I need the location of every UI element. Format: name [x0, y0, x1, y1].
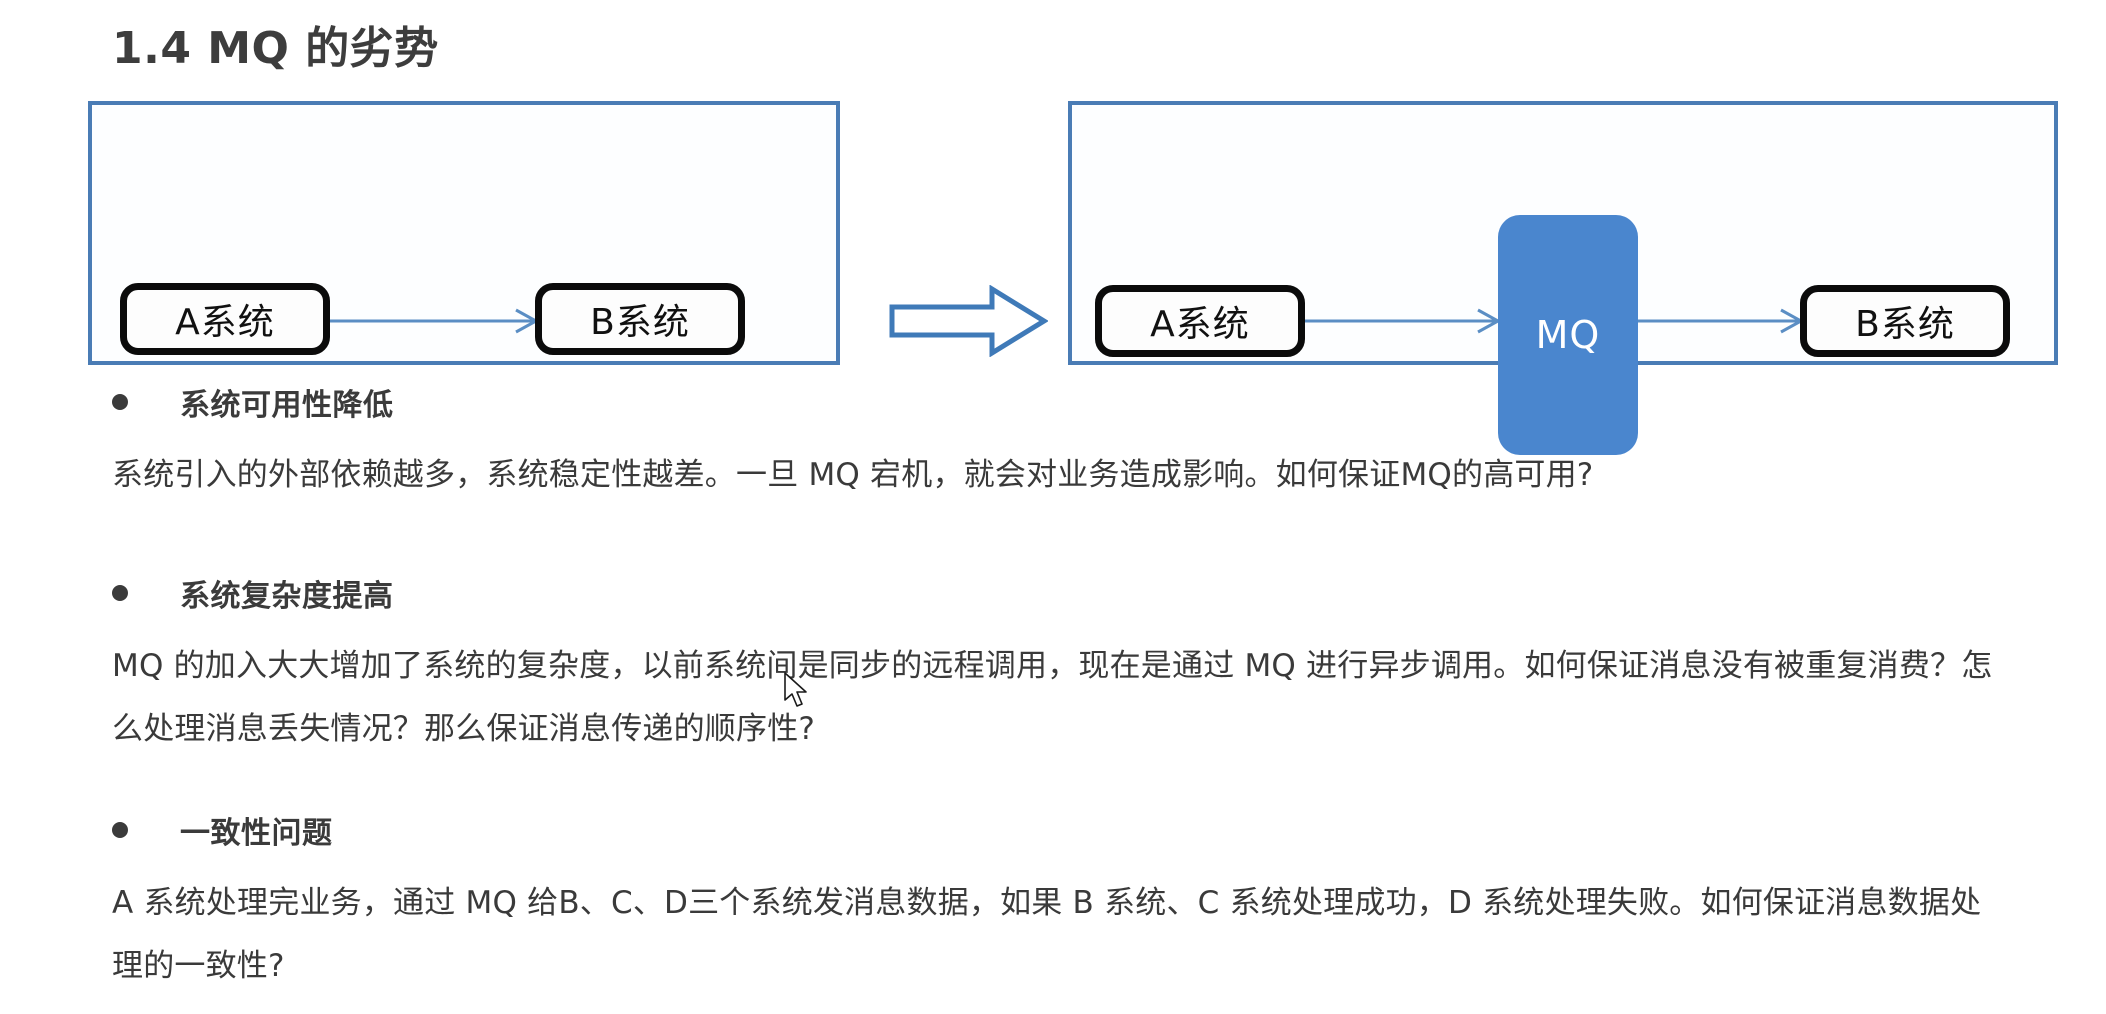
connector-arrow-a-to-mq [1305, 308, 1500, 334]
node-b-system-before: B系统 [535, 283, 745, 355]
bullet-heading-row: 一致性问题 [112, 808, 2106, 852]
connector-arrow-before [330, 308, 538, 334]
node-a-system-after: A系统 [1095, 285, 1305, 357]
node-b-system-after: B系统 [1800, 285, 2010, 357]
node-a-system-before: A系统 [120, 283, 330, 355]
section-paragraph: A 系统处理完业务，通过 MQ 给B、C、D三个系统发消息数据，如果 B 系统、… [112, 872, 1996, 998]
bullet-heading-row: 系统复杂度提高 [112, 571, 2106, 615]
page-title: 1.4 MQ 的劣势 [112, 12, 439, 76]
bullet-dot-icon [112, 585, 128, 601]
transform-block-arrow-icon [888, 285, 1048, 357]
section-availability: 系统可用性降低 系统引入的外部依赖越多，系统稳定性越差。一旦 MQ 宕机，就会对… [0, 380, 2106, 507]
section-heading: 一致性问题 [180, 808, 333, 852]
architecture-diagram: A系统 B系统 A系统 MQ B系统 [0, 95, 2106, 365]
section-consistency: 一致性问题 A 系统处理完业务，通过 MQ 给B、C、D三个系统发消息数据，如果… [0, 808, 2106, 998]
section-paragraph: 系统引入的外部依赖越多，系统稳定性越差。一旦 MQ 宕机，就会对业务造成影响。如… [112, 444, 1996, 507]
connector-arrow-mq-to-b [1638, 308, 1803, 334]
section-paragraph: MQ 的加入大大增加了系统的复杂度，以前系统间是同步的远程调用，现在是通过 MQ… [112, 635, 1996, 761]
section-heading: 系统可用性降低 [180, 380, 394, 424]
bullet-dot-icon [112, 822, 128, 838]
bullet-dot-icon [112, 394, 128, 410]
section-heading: 系统复杂度提高 [180, 571, 394, 615]
bullet-heading-row: 系统可用性降低 [112, 380, 2106, 424]
section-complexity: 系统复杂度提高 MQ 的加入大大增加了系统的复杂度，以前系统间是同步的远程调用，… [0, 571, 2106, 761]
